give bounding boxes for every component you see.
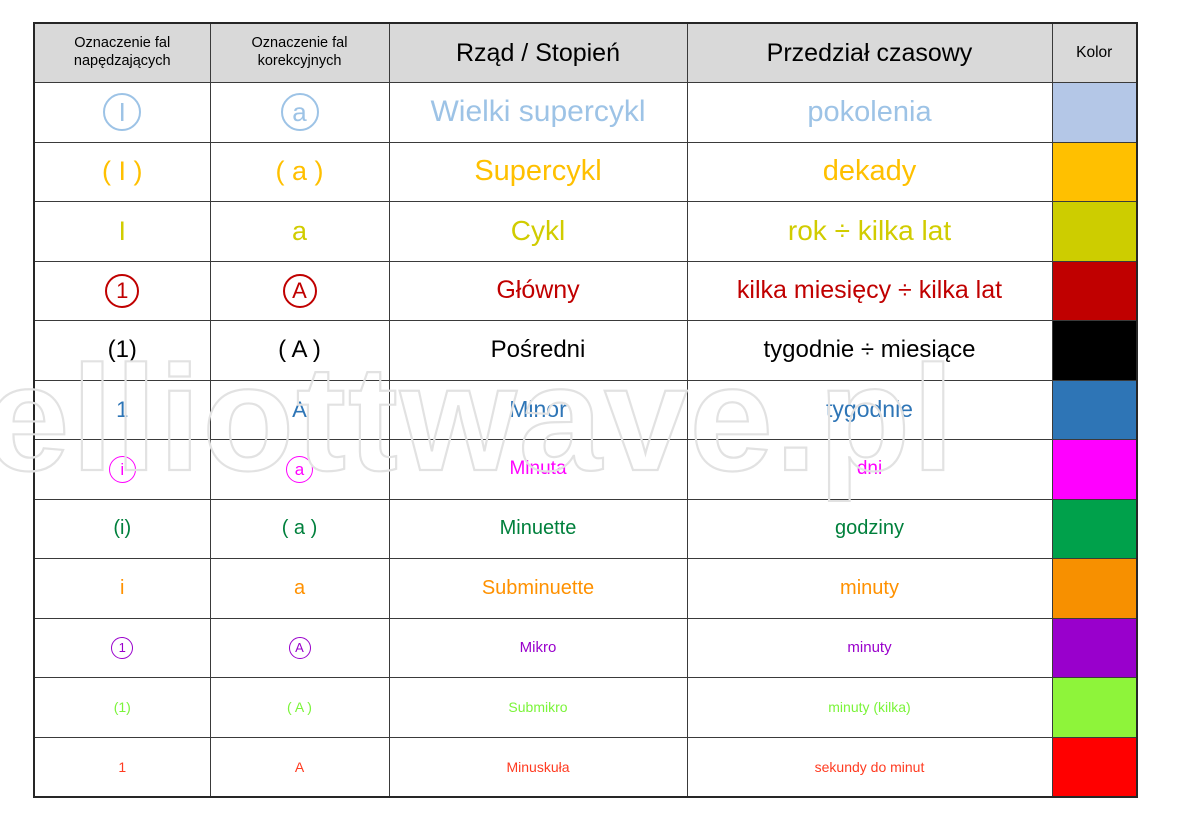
- header-timeframe: Przedział czasowy: [687, 23, 1052, 83]
- timeframe-cell: godziny: [687, 499, 1052, 559]
- header-corrective-line1: Oznaczenie fal: [252, 35, 348, 51]
- degree-cell: Główny: [389, 261, 687, 321]
- impulse-wave-symbol-cell: 1: [34, 618, 210, 678]
- table-row: 1AMinuskułasekundy do minut: [34, 737, 1137, 797]
- timeframe-cell: minuty: [687, 618, 1052, 678]
- corrective-wave-symbol-cell: A: [210, 261, 389, 321]
- color-swatch-cell: [1052, 440, 1137, 500]
- degree-cell: Wielki supercykl: [389, 83, 687, 143]
- impulse-wave-symbol: I: [118, 216, 126, 246]
- header-row: Oznaczenie fal napędzających Oznaczenie …: [34, 23, 1137, 83]
- table-row: (1)( A )Submikrominuty (kilka): [34, 678, 1137, 738]
- impulse-wave-symbol-cell: I: [34, 202, 210, 262]
- corrective-wave-symbol: ( a ): [282, 517, 318, 539]
- impulse-wave-symbol-cell: 1: [34, 737, 210, 797]
- corrective-wave-symbol: a: [286, 456, 313, 483]
- corrective-wave-symbol: a: [292, 216, 307, 246]
- degree-cell: Cykl: [389, 202, 687, 262]
- color-swatch: [1053, 559, 1137, 618]
- color-swatch-cell: [1052, 83, 1137, 143]
- timeframe-cell: minuty (kilka): [687, 678, 1052, 738]
- impulse-wave-symbol-cell: (1): [34, 678, 210, 738]
- corrective-wave-symbol: A: [289, 637, 311, 659]
- color-swatch-cell: [1052, 321, 1137, 381]
- header-degree: Rząd / Stopień: [389, 23, 687, 83]
- degree-cell: Pośredni: [389, 321, 687, 381]
- color-swatch-cell: [1052, 142, 1137, 202]
- color-swatch: [1053, 440, 1137, 499]
- impulse-wave-symbol-cell: 1: [34, 261, 210, 321]
- color-swatch: [1053, 738, 1137, 796]
- impulse-wave-symbol: i: [109, 456, 136, 483]
- timeframe-cell: rok ÷ kilka lat: [687, 202, 1052, 262]
- color-swatch-cell: [1052, 261, 1137, 321]
- color-swatch-cell: [1052, 678, 1137, 738]
- degree-cell: Minuette: [389, 499, 687, 559]
- timeframe-cell: dekady: [687, 142, 1052, 202]
- impulse-wave-symbol-cell: (i): [34, 499, 210, 559]
- impulse-wave-symbol: (i): [113, 517, 131, 539]
- table-row: 1AGłównykilka miesięcy ÷ kilka lat: [34, 261, 1137, 321]
- color-swatch-cell: [1052, 499, 1137, 559]
- impulse-wave-symbol-cell: 1: [34, 380, 210, 440]
- table-head: Oznaczenie fal napędzających Oznaczenie …: [34, 23, 1137, 83]
- color-swatch-cell: [1052, 559, 1137, 619]
- impulse-wave-symbol-cell: i: [34, 559, 210, 619]
- color-swatch: [1053, 381, 1137, 440]
- degree-cell: Mikro: [389, 618, 687, 678]
- table-row: 1AMinortygodnie: [34, 380, 1137, 440]
- impulse-wave-symbol: I: [103, 93, 141, 131]
- table-row: 1AMikrominuty: [34, 618, 1137, 678]
- corrective-wave-symbol-cell: ( A ): [210, 321, 389, 381]
- color-swatch-cell: [1052, 618, 1137, 678]
- degree-cell: Submikro: [389, 678, 687, 738]
- color-swatch: [1053, 143, 1137, 202]
- impulse-wave-symbol: 1: [111, 637, 133, 659]
- corrective-wave-symbol-cell: A: [210, 618, 389, 678]
- corrective-wave-symbol-cell: ( a ): [210, 499, 389, 559]
- impulse-wave-symbol-cell: i: [34, 440, 210, 500]
- impulse-wave-symbol-cell: I: [34, 83, 210, 143]
- color-swatch: [1053, 619, 1137, 678]
- corrective-wave-symbol: A: [283, 274, 317, 308]
- degrees-table: Oznaczenie fal napędzających Oznaczenie …: [33, 22, 1138, 798]
- color-swatch-cell: [1052, 380, 1137, 440]
- corrective-wave-symbol-cell: a: [210, 440, 389, 500]
- corrective-wave-symbol-cell: A: [210, 380, 389, 440]
- degree-cell: Minuskuła: [389, 737, 687, 797]
- timeframe-cell: tygodnie ÷ miesiące: [687, 321, 1052, 381]
- impulse-wave-symbol: (1): [108, 336, 137, 363]
- degree-cell: Minor: [389, 380, 687, 440]
- degree-cell: Subminuette: [389, 559, 687, 619]
- corrective-wave-symbol: a: [294, 577, 305, 599]
- degree-cell: Minuta: [389, 440, 687, 500]
- table-row: iaMinutadni: [34, 440, 1137, 500]
- header-impulse-line2: napędzających: [74, 53, 171, 69]
- color-swatch: [1053, 83, 1137, 142]
- timeframe-cell: pokolenia: [687, 83, 1052, 143]
- corrective-wave-symbol: ( a ): [275, 156, 323, 186]
- impulse-wave-symbol-cell: (1): [34, 321, 210, 381]
- timeframe-cell: tygodnie: [687, 380, 1052, 440]
- corrective-wave-symbol: A: [295, 759, 304, 775]
- corrective-wave-symbol-cell: a: [210, 83, 389, 143]
- header-impulse-line1: Oznaczenie fal: [74, 35, 170, 51]
- color-swatch: [1053, 262, 1137, 321]
- corrective-wave-symbol-cell: a: [210, 559, 389, 619]
- table-row: (i)( a )Minuettegodziny: [34, 499, 1137, 559]
- table-row: ( I )( a )Supercykldekady: [34, 142, 1137, 202]
- timeframe-cell: kilka miesięcy ÷ kilka lat: [687, 261, 1052, 321]
- impulse-wave-symbol: (1): [114, 699, 131, 715]
- table-row: iaSubminuetteminuty: [34, 559, 1137, 619]
- table-row: IaCyklrok ÷ kilka lat: [34, 202, 1137, 262]
- table-row: IaWielki supercyklpokolenia: [34, 83, 1137, 143]
- corrective-wave-symbol: a: [281, 93, 319, 131]
- header-corrective-line2: korekcyjnych: [258, 53, 342, 69]
- corrective-wave-symbol-cell: A: [210, 737, 389, 797]
- corrective-wave-symbol: A: [292, 397, 307, 422]
- table-body: IaWielki supercyklpokolenia( I )( a )Sup…: [34, 83, 1137, 797]
- color-swatch-cell: [1052, 737, 1137, 797]
- degree-cell: Supercykl: [389, 142, 687, 202]
- color-swatch: [1053, 678, 1137, 737]
- color-swatch: [1053, 500, 1137, 559]
- header-color: Kolor: [1052, 23, 1137, 83]
- impulse-wave-symbol: i: [120, 577, 124, 599]
- corrective-wave-symbol: ( A ): [287, 699, 312, 715]
- impulse-wave-symbol: 1: [116, 397, 128, 422]
- impulse-wave-symbol-cell: ( I ): [34, 142, 210, 202]
- color-swatch: [1053, 321, 1137, 380]
- corrective-wave-symbol-cell: ( a ): [210, 142, 389, 202]
- header-corrective-waves: Oznaczenie fal korekcyjnych: [210, 23, 389, 83]
- impulse-wave-symbol: 1: [118, 759, 126, 775]
- color-swatch-cell: [1052, 202, 1137, 262]
- header-impulse-waves: Oznaczenie fal napędzających: [34, 23, 210, 83]
- timeframe-cell: sekundy do minut: [687, 737, 1052, 797]
- table-row: (1)( A )Pośrednitygodnie ÷ miesiące: [34, 321, 1137, 381]
- elliott-wave-degrees-table: Oznaczenie fal napędzających Oznaczenie …: [33, 22, 1136, 795]
- corrective-wave-symbol-cell: ( A ): [210, 678, 389, 738]
- timeframe-cell: minuty: [687, 559, 1052, 619]
- timeframe-cell: dni: [687, 440, 1052, 500]
- impulse-wave-symbol: ( I ): [102, 156, 143, 186]
- color-swatch: [1053, 202, 1137, 261]
- corrective-wave-symbol: ( A ): [278, 336, 321, 363]
- corrective-wave-symbol-cell: a: [210, 202, 389, 262]
- impulse-wave-symbol: 1: [105, 274, 139, 308]
